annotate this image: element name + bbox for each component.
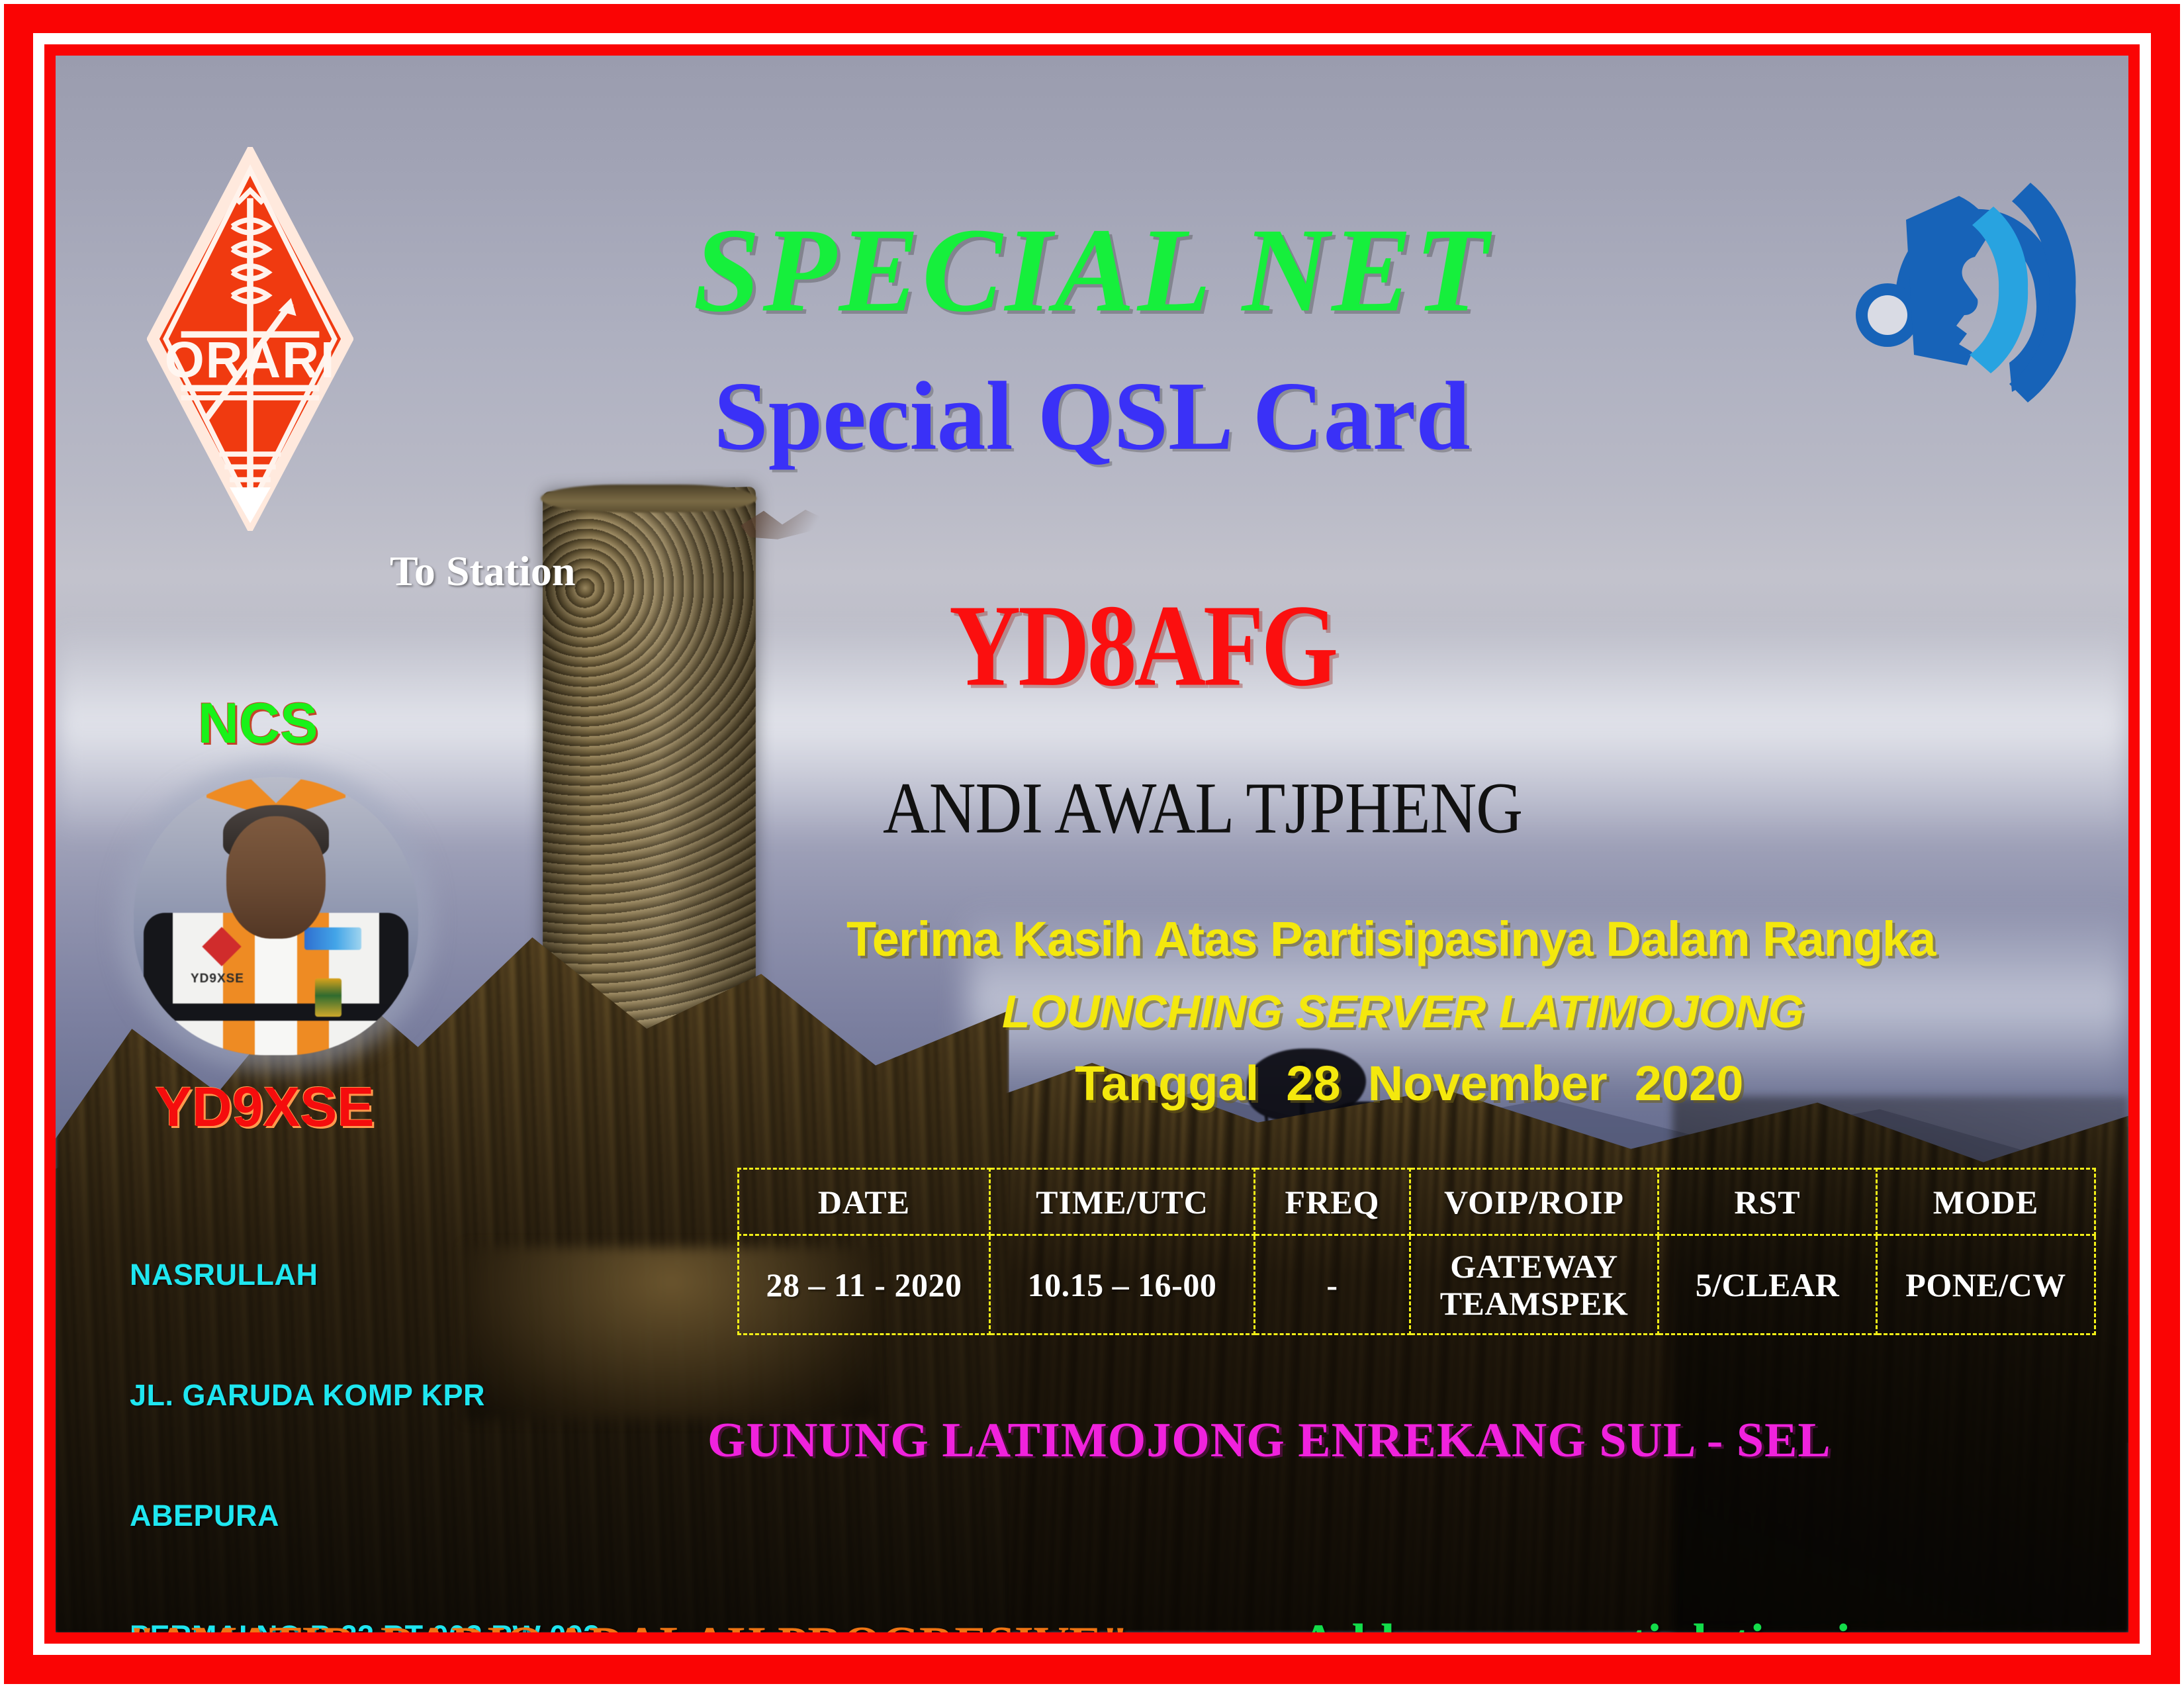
thanks-line-1: Terima Kasih Atas Partisipasinya Dalam R… bbox=[846, 911, 1935, 967]
operator-face bbox=[226, 816, 326, 939]
page-title: SPECIAL NET bbox=[56, 201, 2128, 340]
table-row: 28 – 11 - 2020 10.15 – 16-00 - GATEWAY T… bbox=[739, 1235, 2095, 1335]
thanks-line-2: LOUNCHING SERVER LATIMOJONG bbox=[1002, 985, 1804, 1038]
ncs-label: NCS bbox=[198, 691, 318, 757]
white-border-gap: ORARI SPECIAL NET bbox=[33, 33, 2151, 1655]
table-header-row: DATE TIME/UTC FREQ VOIP/ROIP RST MODE bbox=[739, 1169, 2095, 1235]
column-header-mode: MODE bbox=[1877, 1169, 2095, 1235]
address-line: NASRULLAH bbox=[130, 1255, 600, 1295]
cell-mode: PONE/CW bbox=[1877, 1235, 2095, 1335]
column-header-time: TIME/UTC bbox=[990, 1169, 1255, 1235]
uniform-id-badge bbox=[315, 978, 341, 1017]
cell-voip-line1: GATEWAY bbox=[1411, 1248, 1657, 1285]
cell-freq: - bbox=[1255, 1235, 1410, 1335]
cairn-top-cap bbox=[541, 485, 756, 512]
column-header-rst: RST bbox=[1659, 1169, 1877, 1235]
website-address: Address : amatir.latimojong.com bbox=[1300, 1613, 2035, 1632]
column-header-freq: FREQ bbox=[1255, 1169, 1410, 1235]
cell-voip-line2: TEAMSPEK bbox=[1411, 1285, 1657, 1322]
location-text: GUNUNG LATIMOJONG ENREKANG SUL - SEL bbox=[707, 1413, 1831, 1469]
to-station-label: To Station bbox=[390, 547, 575, 596]
station-callsign: YD8AFG bbox=[949, 579, 1336, 713]
address-block: NASRULLAH JL. GARUDA KOMP KPR ABEPURA PE… bbox=[130, 1174, 600, 1632]
address-line: ABEPURA bbox=[130, 1496, 600, 1536]
motto-text: "AMATIR RADIO ADALAH PROGRESIVE" bbox=[128, 1617, 1129, 1632]
address-line: JL. GARUDA KOMP KPR bbox=[130, 1376, 600, 1416]
cell-date: 28 – 11 - 2020 bbox=[739, 1235, 990, 1335]
column-header-date: DATE bbox=[739, 1169, 990, 1235]
operator-photo: YD9XSE bbox=[134, 777, 418, 1055]
cell-time: 10.15 – 16-00 bbox=[990, 1235, 1255, 1335]
page-subtitle: Special QSL Card bbox=[56, 360, 2128, 473]
qsl-card: ORARI SPECIAL NET bbox=[0, 0, 2184, 1688]
operator-name: ANDI AWAL TJPHENG bbox=[883, 767, 1522, 850]
uniform-belt bbox=[159, 1004, 393, 1021]
cell-voip: GATEWAY TEAMSPEK bbox=[1410, 1235, 1659, 1335]
ncs-callsign: YD9XSE bbox=[155, 1075, 375, 1139]
card-photo-scene: ORARI SPECIAL NET bbox=[56, 56, 2128, 1632]
thanks-line-3: Tanggal 28 November 2020 bbox=[1075, 1055, 1743, 1111]
uniform-patch-right bbox=[304, 927, 361, 950]
cell-rst: 5/CLEAR bbox=[1659, 1235, 1877, 1335]
outer-red-border: ORARI SPECIAL NET bbox=[4, 4, 2180, 1684]
inner-red-border: ORARI SPECIAL NET bbox=[44, 44, 2140, 1644]
uniform-callsign-text: YD9XSE bbox=[191, 972, 244, 986]
qso-table: DATE TIME/UTC FREQ VOIP/ROIP RST MODE 28… bbox=[737, 1168, 2096, 1335]
column-header-voip: VOIP/ROIP bbox=[1410, 1169, 1659, 1235]
